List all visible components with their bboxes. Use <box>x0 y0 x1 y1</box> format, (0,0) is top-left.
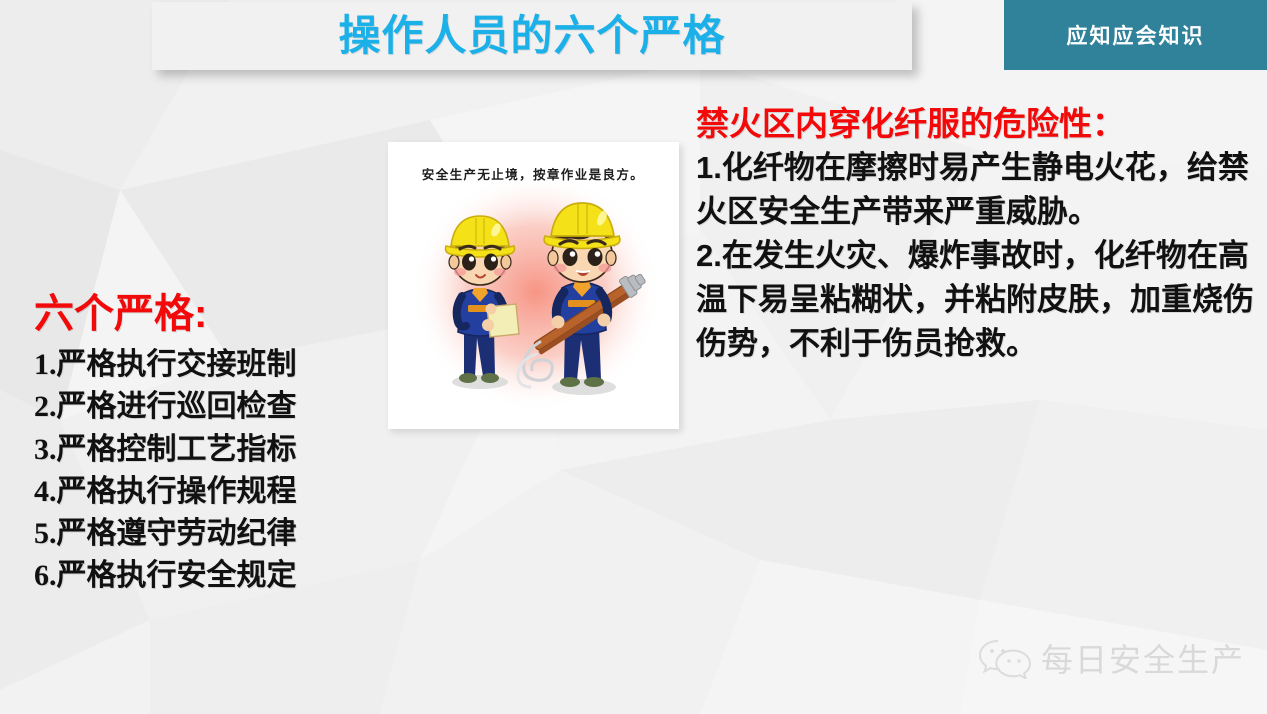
list-item: 5.严格遵守劳动纪律 <box>34 513 414 555</box>
list-item-label: 严格遵守劳动纪律 <box>57 517 297 550</box>
watermark: 每日安全生产 <box>978 635 1245 681</box>
cartoon-workers-illustration: 安全生产无止境，按章作业是良方。 <box>388 142 679 429</box>
corner-badge: 应知应会知识 <box>1004 0 1267 70</box>
list-item: 3.严格控制工艺指标 <box>34 429 414 471</box>
list-item-number: 5. <box>34 517 57 550</box>
slide-canvas: 操作人员的六个严格 应知应会知识 六个严格: 1.严格执行交接班制 2.严格进行… <box>0 0 1267 714</box>
right-paragraph: 2.在发生火灾、爆炸事故时，化纤物在高温下易呈粘糊状，并粘附皮肤，加重烧伤伤势，… <box>696 234 1256 366</box>
illustration-caption: 安全生产无止境，按章作业是良方。 <box>422 167 644 182</box>
slide-title-bar: 操作人员的六个严格 <box>152 2 912 70</box>
list-item-label: 严格执行操作规程 <box>57 475 297 508</box>
left-section-heading: 六个严格: <box>34 292 414 336</box>
list-item-label: 严格控制工艺指标 <box>57 433 297 466</box>
list-item-number: 1. <box>34 348 57 381</box>
list-item-label: 严格执行安全规定 <box>57 559 297 592</box>
wechat-icon <box>978 637 1032 679</box>
list-item-number: 6. <box>34 559 57 592</box>
list-item: 2.严格进行巡回检查 <box>34 386 414 428</box>
list-item-number: 3. <box>34 433 57 466</box>
left-content-column: 六个严格: 1.严格执行交接班制 2.严格进行巡回检查 3.严格控制工艺指标 4… <box>34 292 414 598</box>
list-item: 4.严格执行操作规程 <box>34 471 414 513</box>
right-content-column: 禁火区内穿化纤服的危险性： 1.化纤物在摩擦时易产生静电火花，给禁火区安全生产带… <box>696 104 1256 366</box>
list-item-number: 2. <box>34 390 57 423</box>
list-item: 6.严格执行安全规定 <box>34 555 414 597</box>
watermark-label: 每日安全生产 <box>1041 635 1245 681</box>
list-item-label: 严格执行交接班制 <box>57 348 297 381</box>
list-item: 1.严格执行交接班制 <box>34 344 414 386</box>
page-title: 操作人员的六个严格 <box>338 15 725 57</box>
right-section-heading: 禁火区内穿化纤服的危险性： <box>696 104 1256 144</box>
illustration-panel: 安全生产无止境，按章作业是良方。 <box>388 142 679 429</box>
list-item-label: 严格进行巡回检查 <box>57 390 297 423</box>
corner-badge-label: 应知应会知识 <box>1067 20 1205 50</box>
list-item-number: 4. <box>34 475 57 508</box>
right-paragraph: 1.化纤物在摩擦时易产生静电火花，给禁火区安全生产带来严重威胁。 <box>696 146 1256 234</box>
